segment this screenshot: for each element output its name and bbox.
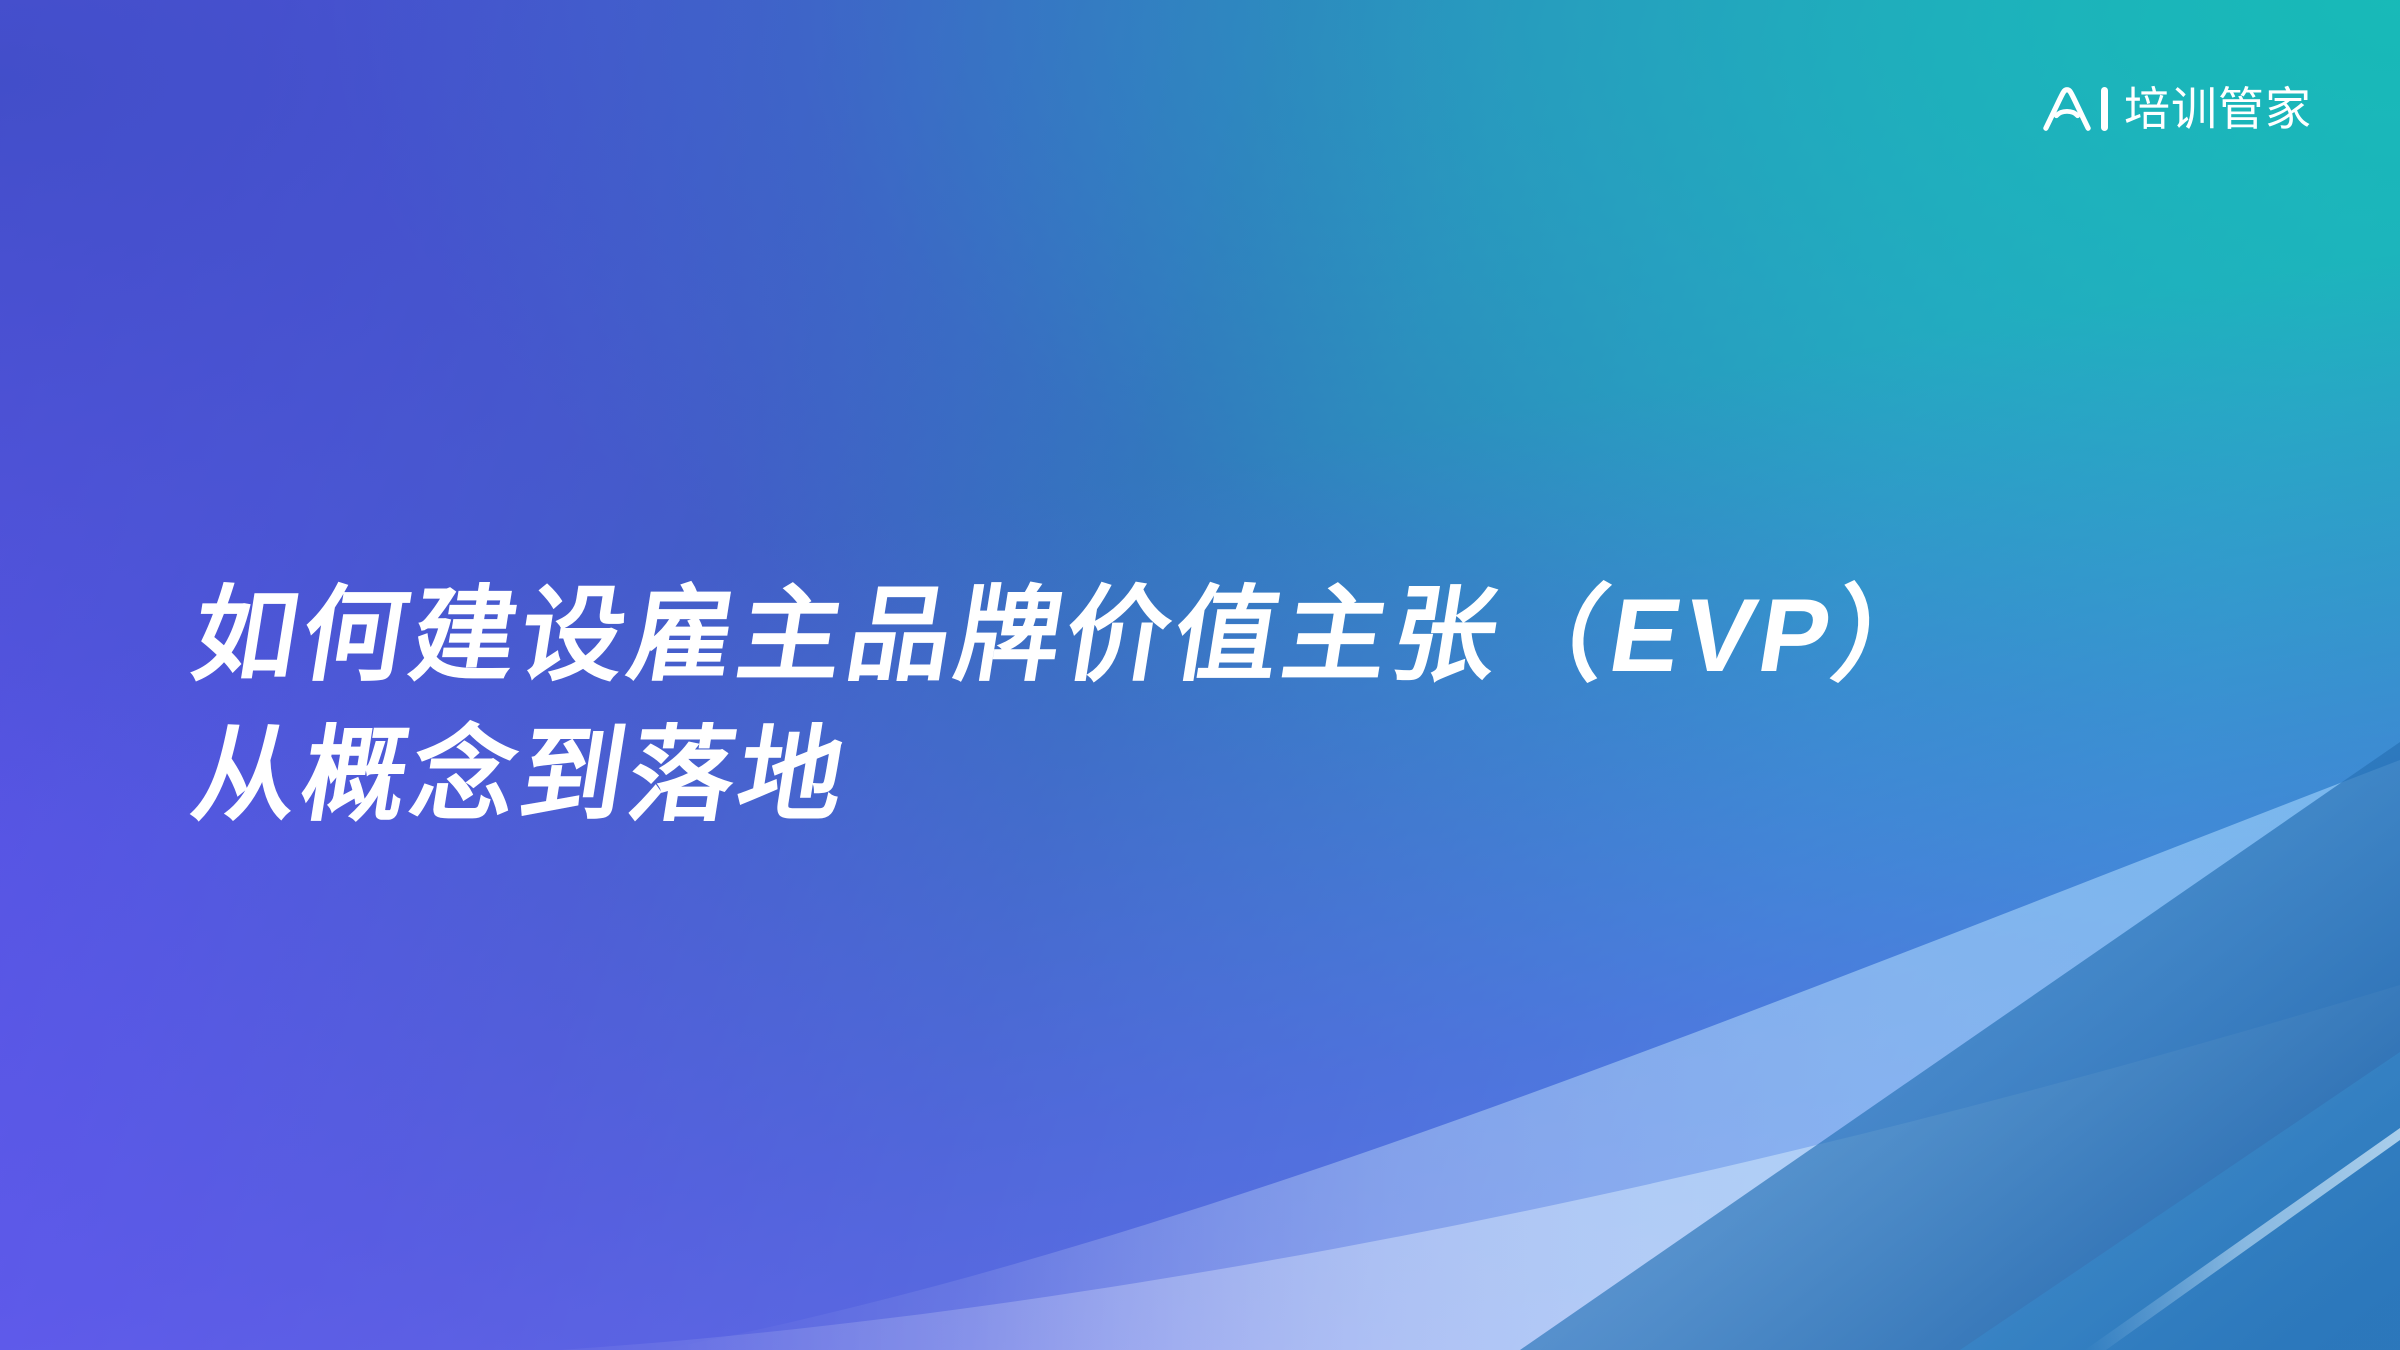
slide-title-line-1: 如何建设雇主品牌价值主张（EVP） <box>183 566 2105 706</box>
slide-title: 如何建设雇主品牌价值主张（EVP） 从概念到落地 <box>183 566 2083 846</box>
logo-divider-bar <box>2101 87 2108 131</box>
ai-triangle-mark <box>2042 84 2092 134</box>
logo-wordmark: 培训管家 <box>2124 86 2312 132</box>
brand-logo[interactable]: 培训管家 <box>2042 78 2312 140</box>
slide-title-line-2: 从概念到落地 <box>183 706 2105 846</box>
title-slide: 培训管家 如何建设雇主品牌价值主张（EVP） 从概念到落地 <box>0 0 2400 1350</box>
